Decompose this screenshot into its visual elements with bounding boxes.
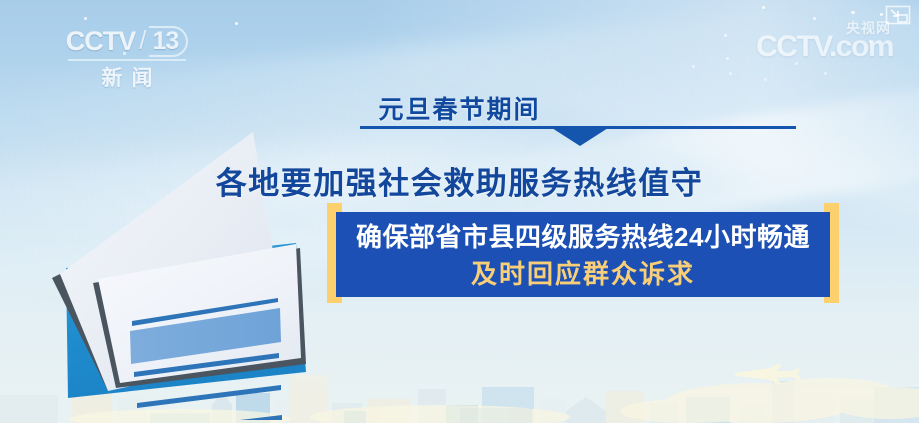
document-line-3: [137, 385, 281, 408]
restore-window-icon[interactable]: [885, 5, 911, 25]
sparkle-dot: [729, 72, 732, 75]
divider-triangle-icon: [552, 128, 608, 146]
news-graphic-screen: CCTV / 13 新闻 央视网 CCTV.com: [0, 0, 919, 423]
watermark-main-text: CCTV.com: [756, 30, 893, 64]
banner-line-2: 及时回应群众诉求: [336, 256, 830, 292]
sparkle-dot: [824, 72, 827, 75]
document-line-4: [139, 415, 282, 420]
channel-bug-row-top: CCTV / 13: [47, 26, 207, 57]
channel-bug-rule: [68, 59, 186, 61]
channel-number: 13: [149, 26, 188, 57]
banner: 确保部省市县四级服务热线24小时畅通 及时回应群众诉求: [327, 203, 839, 303]
sparkle-dot: [813, 17, 816, 20]
channel-name-text: 新闻: [47, 62, 207, 92]
sparkle-dot: [869, 40, 872, 43]
page-title: 各地要加强社会救助服务热线值守: [0, 158, 919, 203]
sparkle-dot: [764, 78, 767, 81]
sparkle-dot: [795, 62, 798, 65]
cctv-com-watermark: 央视网 CCTV.com: [756, 30, 893, 64]
channel-bug: CCTV / 13 新闻: [47, 26, 207, 92]
sparkle-dot: [726, 57, 729, 60]
sparkle-dot: [880, 13, 883, 16]
sparkle-dot: [84, 17, 87, 20]
sparkle-dot: [235, 22, 238, 25]
banner-line-1: 确保部省市县四级服务热线24小时畅通: [336, 218, 830, 256]
sparkle-dot: [692, 65, 695, 68]
sparkle-dot: [851, 11, 855, 14]
slash-divider: /: [139, 25, 145, 56]
sparkle-dot: [762, 6, 765, 9]
banner-body: 确保部省市县四级服务热线24小时畅通 及时回应群众诉求: [336, 212, 830, 297]
kicker-text: 元旦春节期间: [0, 90, 919, 126]
cctv-brand-text: CCTV: [66, 26, 136, 57]
sparkle-dot: [724, 34, 727, 37]
sparkle-dot: [123, 52, 126, 55]
